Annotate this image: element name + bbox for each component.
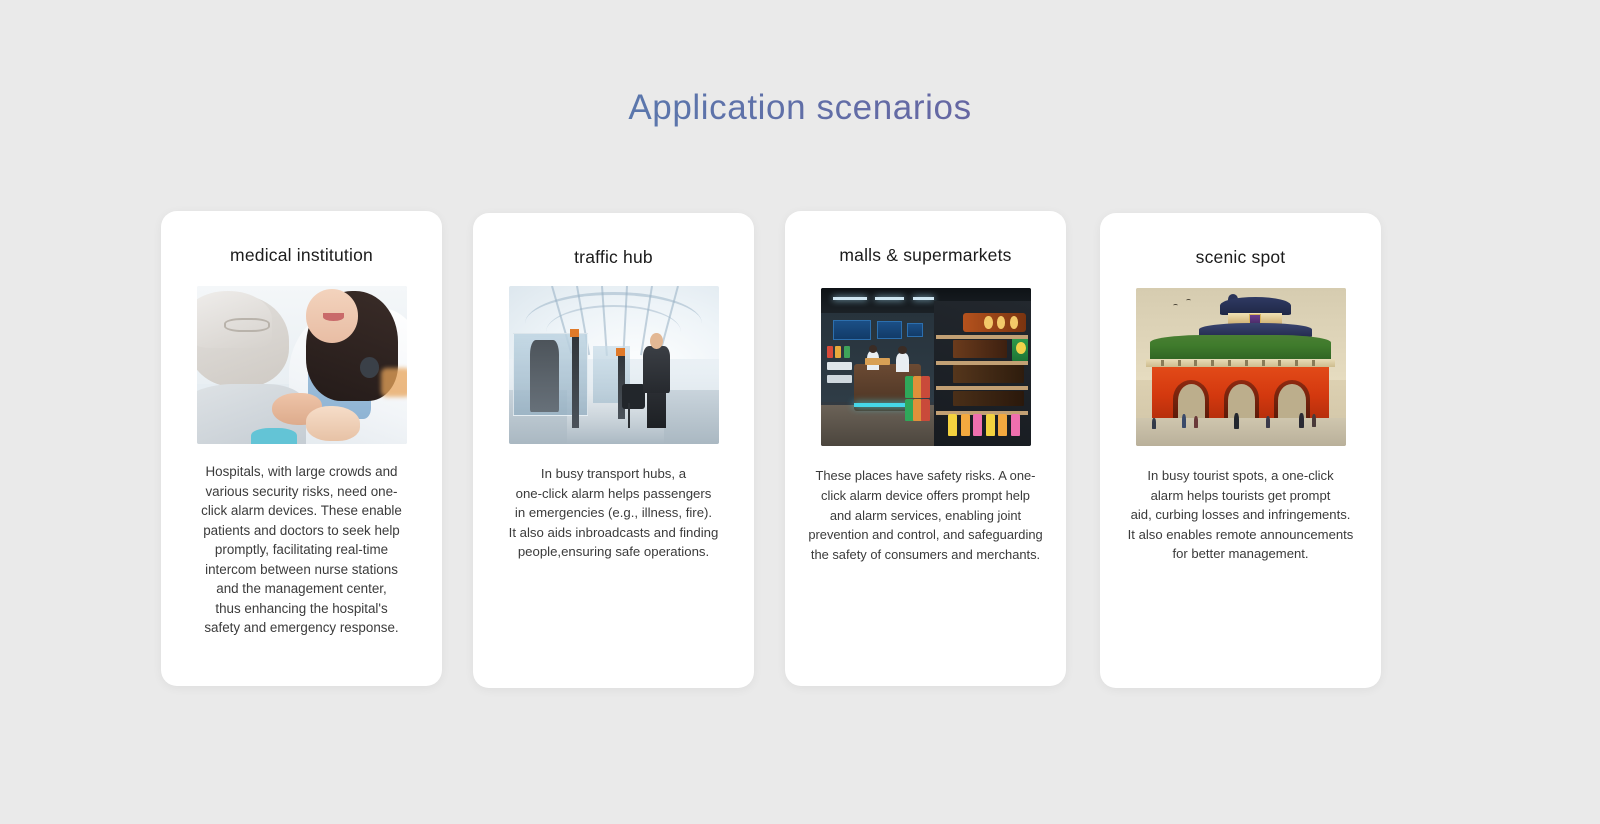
card-description: Hospitals, with large crowds and various… bbox=[171, 462, 432, 638]
page-title: Application scenarios bbox=[0, 88, 1600, 128]
scenario-card-medical-institution[interactable]: medical institution bbox=[161, 211, 442, 686]
card-image-medical-institution bbox=[197, 286, 407, 444]
scenario-card-malls-supermarkets[interactable]: malls & supermarkets bbox=[785, 211, 1066, 686]
card-description: In busy tourist spots, a one-click alarm… bbox=[1110, 466, 1371, 564]
card-title: traffic hub bbox=[473, 213, 754, 268]
card-title: scenic spot bbox=[1100, 213, 1381, 268]
scenario-cards-row: medical institution bbox=[161, 211, 1441, 688]
card-image-malls-supermarkets bbox=[821, 288, 1031, 446]
card-title: medical institution bbox=[161, 211, 442, 266]
card-title: malls & supermarkets bbox=[785, 211, 1066, 266]
scenario-card-scenic-spot[interactable]: scenic spot bbox=[1100, 213, 1381, 688]
card-image-scenic-spot bbox=[1136, 288, 1346, 446]
card-description: These places have safety risks. A one- c… bbox=[795, 466, 1056, 565]
card-description: In busy transport hubs, a one-click alar… bbox=[483, 464, 744, 562]
card-image-traffic-hub bbox=[509, 286, 719, 444]
application-scenarios-page: Application scenarios medical institutio… bbox=[0, 0, 1600, 824]
scenario-card-traffic-hub[interactable]: traffic hub bbox=[473, 213, 754, 688]
